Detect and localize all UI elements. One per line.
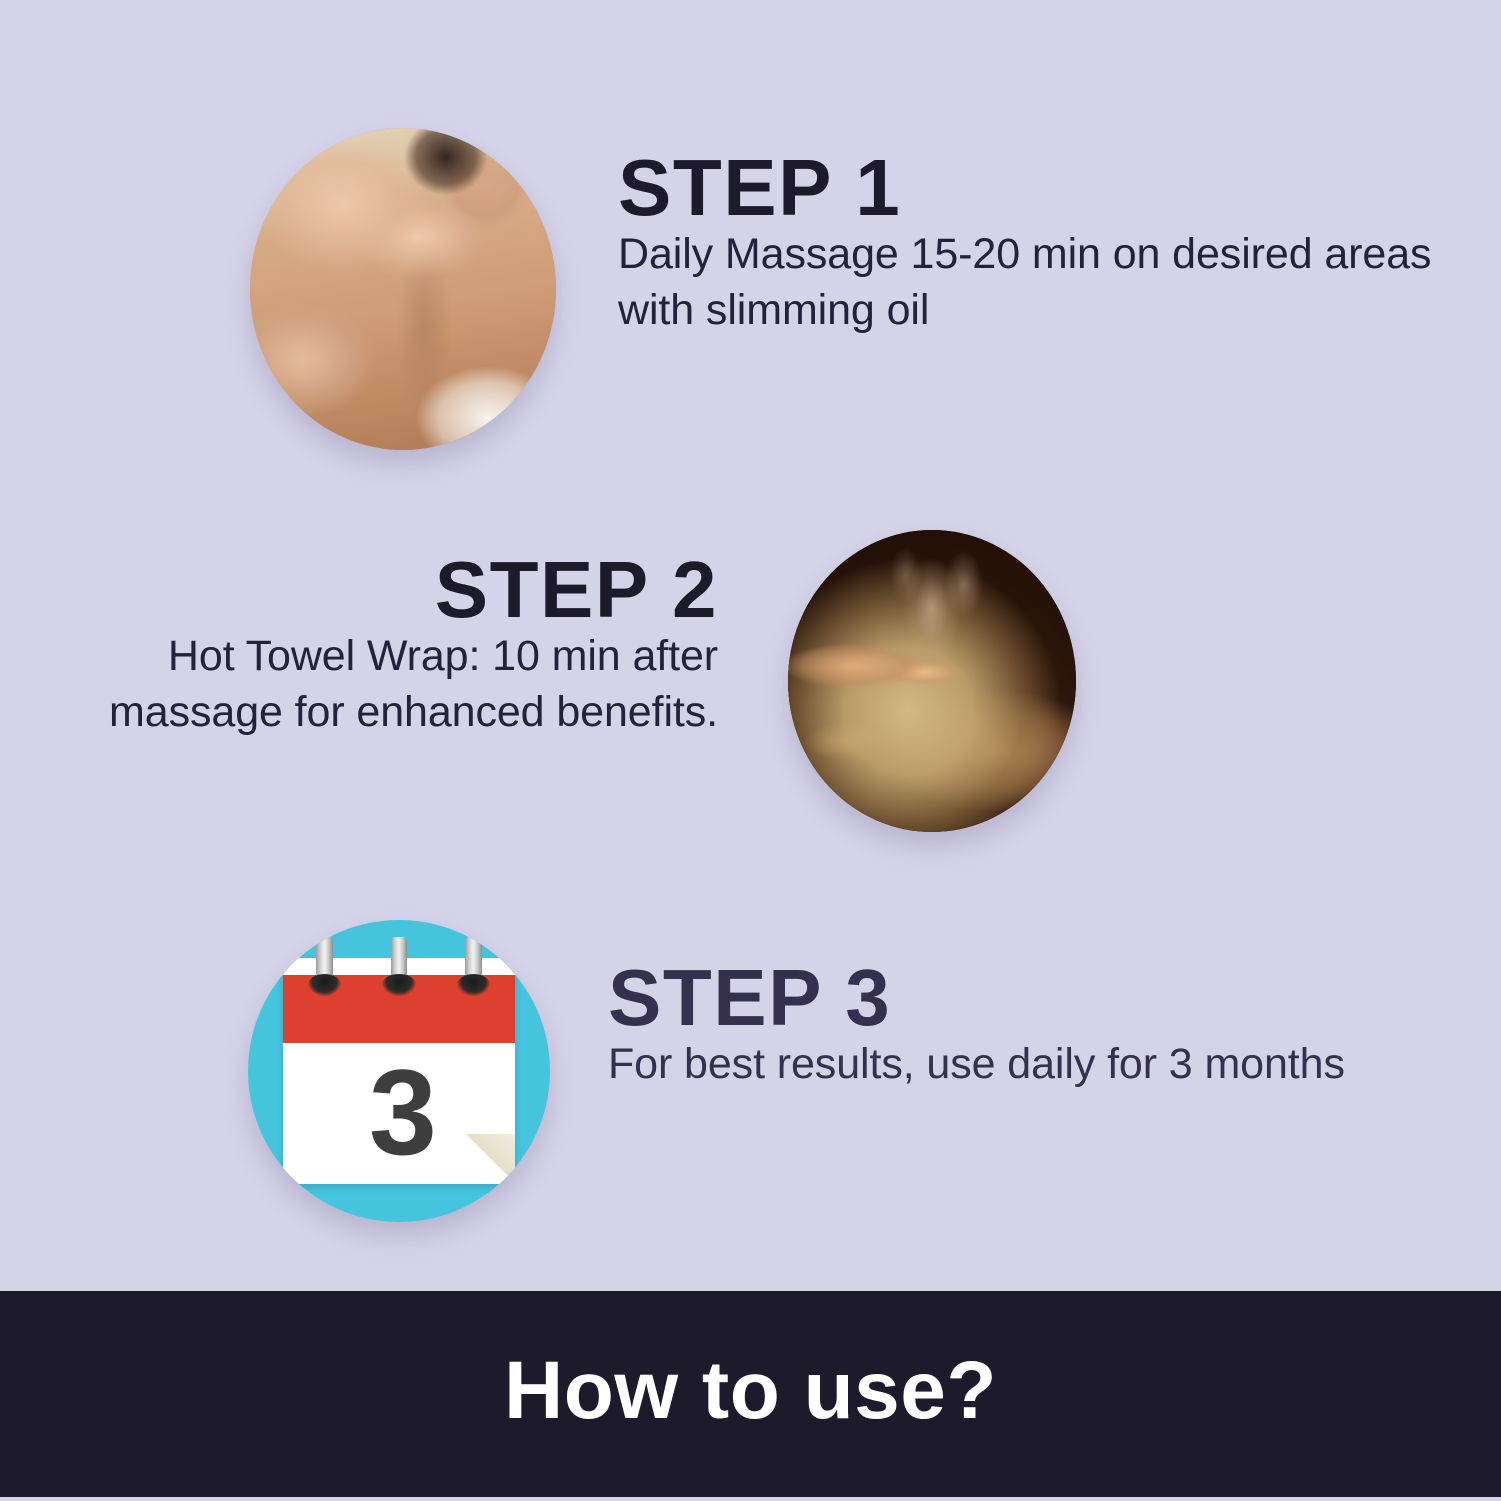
step-2-description: Hot Towel Wrap: 10 min after massage for…: [0, 629, 718, 741]
massage-photo: [250, 128, 556, 450]
infographic-canvas: STEP 1 Daily Massage 15-20 min on desire…: [0, 0, 1501, 1501]
step-row-3: 3 STEP 3 For best results, use daily for…: [0, 920, 1501, 1222]
step-1-text-block: STEP 1 Daily Massage 15-20 min on desire…: [618, 128, 1501, 339]
footer-title: How to use?: [504, 1350, 997, 1438]
hot-towel-photo: [788, 530, 1076, 832]
step-row-2: STEP 2 Hot Towel Wrap: 10 min after mass…: [0, 530, 1501, 832]
step-row-1: STEP 1 Daily Massage 15-20 min on desire…: [0, 128, 1501, 450]
calendar-ring-2: [391, 937, 408, 985]
calendar-icon-graphic: 3: [248, 920, 550, 1222]
calendar-ring-1: [316, 937, 333, 985]
calendar-ring-3: [465, 937, 482, 985]
bottom-edge-strip: [0, 1497, 1501, 1501]
massage-photo-image: [250, 128, 556, 450]
step-2-text-block: STEP 2 Hot Towel Wrap: 10 min after mass…: [0, 530, 718, 741]
step-1-heading: STEP 1: [618, 150, 901, 227]
hot-towel-photo-image: [788, 530, 1076, 832]
calendar-spiral-rings: [248, 920, 550, 1222]
step-3-heading: STEP 3: [608, 960, 891, 1037]
step-1-description: Daily Massage 15-20 min on desired areas…: [618, 227, 1501, 339]
footer-banner: How to use?: [0, 1291, 1501, 1497]
step-3-text-block: STEP 3 For best results, use daily for 3…: [608, 920, 1345, 1093]
calendar-icon: 3: [248, 920, 550, 1222]
step-2-heading: STEP 2: [435, 552, 718, 629]
step-3-description: For best results, use daily for 3 months: [608, 1037, 1345, 1093]
